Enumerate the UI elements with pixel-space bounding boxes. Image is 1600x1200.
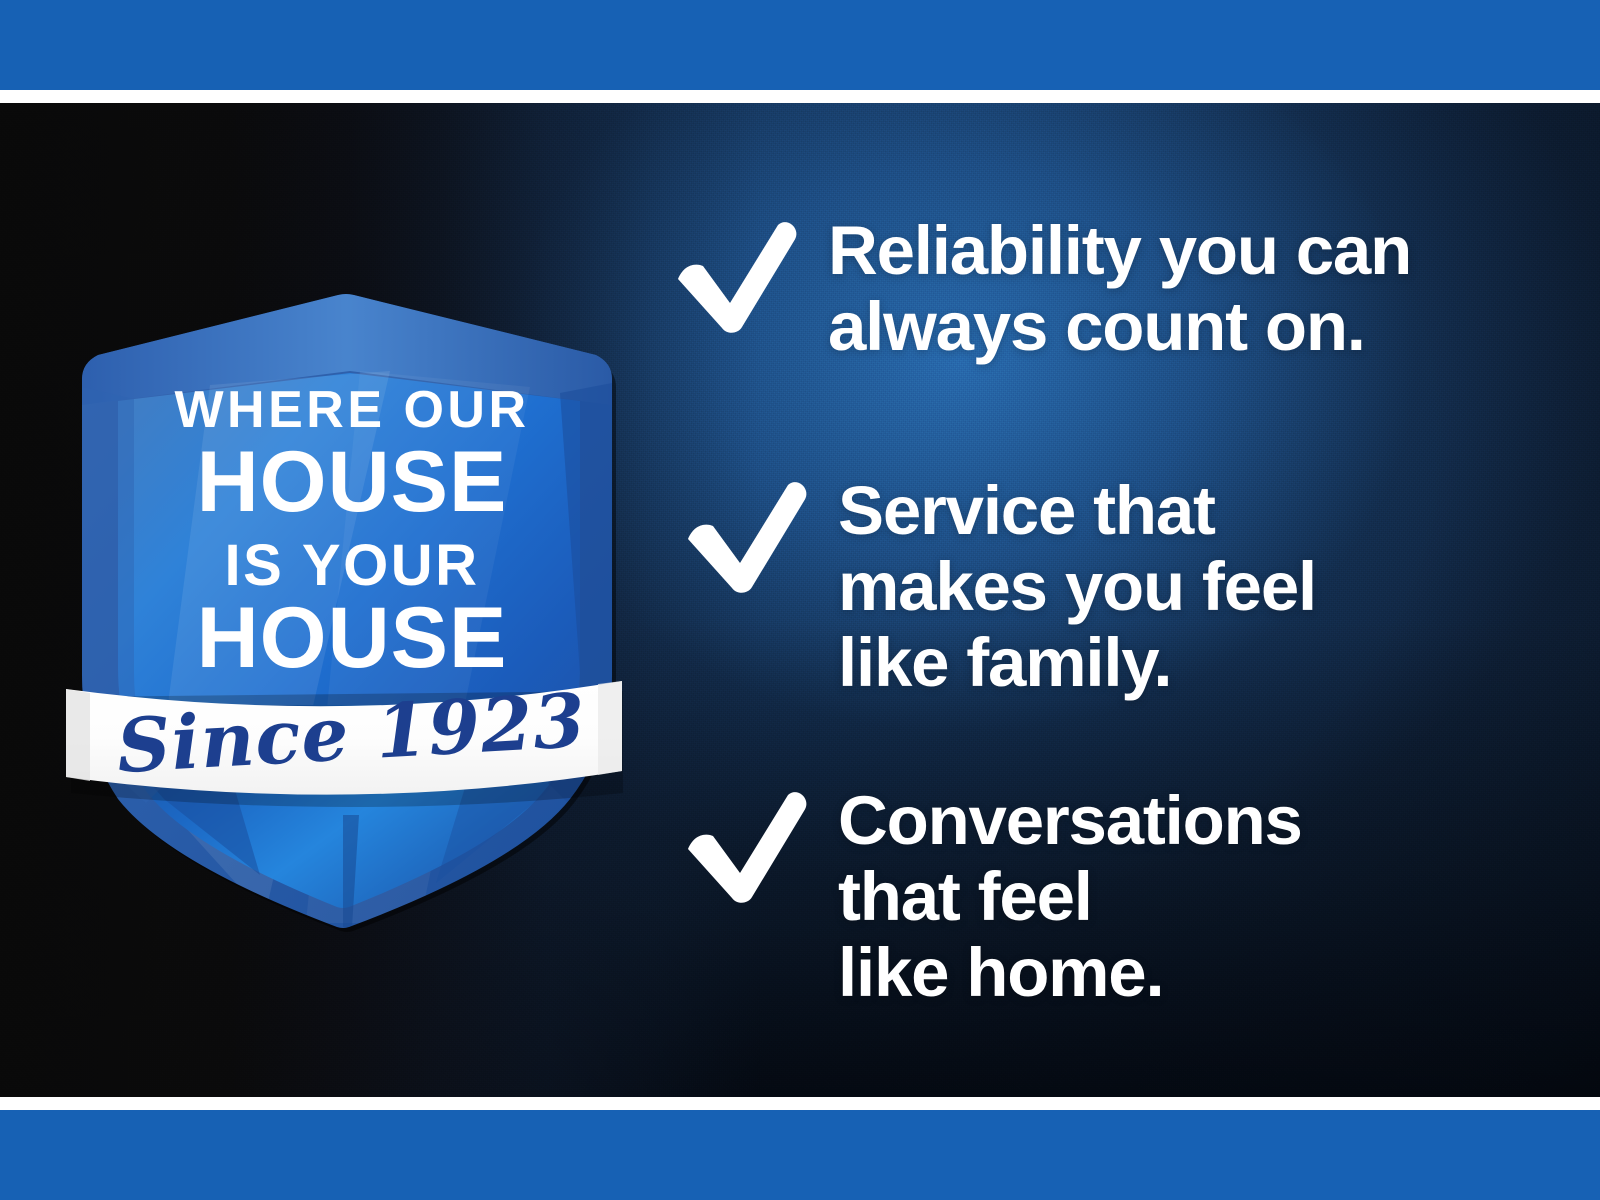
- artwork-canvas: WHERE OUR HOUSE IS YOUR HOUSE Since 1923: [0, 103, 1600, 1097]
- benefit-text-3: Conversations that feel like home.: [838, 783, 1302, 1011]
- banner-left-fold: [66, 689, 90, 781]
- checkmark-icon: [680, 789, 810, 909]
- banner-right-fold: [598, 681, 622, 775]
- logo-line-2: HOUSE: [197, 434, 508, 530]
- top-brand-bar: [0, 0, 1600, 90]
- checkmark-icon: [670, 219, 800, 339]
- benefit-text-1: Reliability you can always count on.: [828, 213, 1411, 365]
- promo-graphic: WHERE OUR HOUSE IS YOUR HOUSE Since 1923: [0, 0, 1600, 1200]
- benefit-item-3: Conversations that feel like home.: [680, 783, 1302, 1011]
- logo-line-4: HOUSE: [197, 590, 508, 686]
- bottom-white-divider: [0, 1097, 1600, 1110]
- logo-line-1: WHERE OUR: [174, 381, 529, 439]
- benefit-item-1: Reliability you can always count on.: [670, 213, 1411, 365]
- benefit-item-2: Service that makes you feel like family.: [680, 473, 1316, 701]
- top-white-divider: [0, 90, 1600, 103]
- bottom-brand-bar: [0, 1110, 1600, 1200]
- checkmark-icon: [680, 479, 810, 599]
- shield-logo: WHERE OUR HOUSE IS YOUR HOUSE Since 1923: [60, 275, 630, 935]
- logo-line-3: IS YOUR: [225, 533, 480, 598]
- benefit-text-2: Service that makes you feel like family.: [838, 473, 1316, 701]
- benefits-list: Reliability you can always count on. Ser…: [660, 103, 1560, 1097]
